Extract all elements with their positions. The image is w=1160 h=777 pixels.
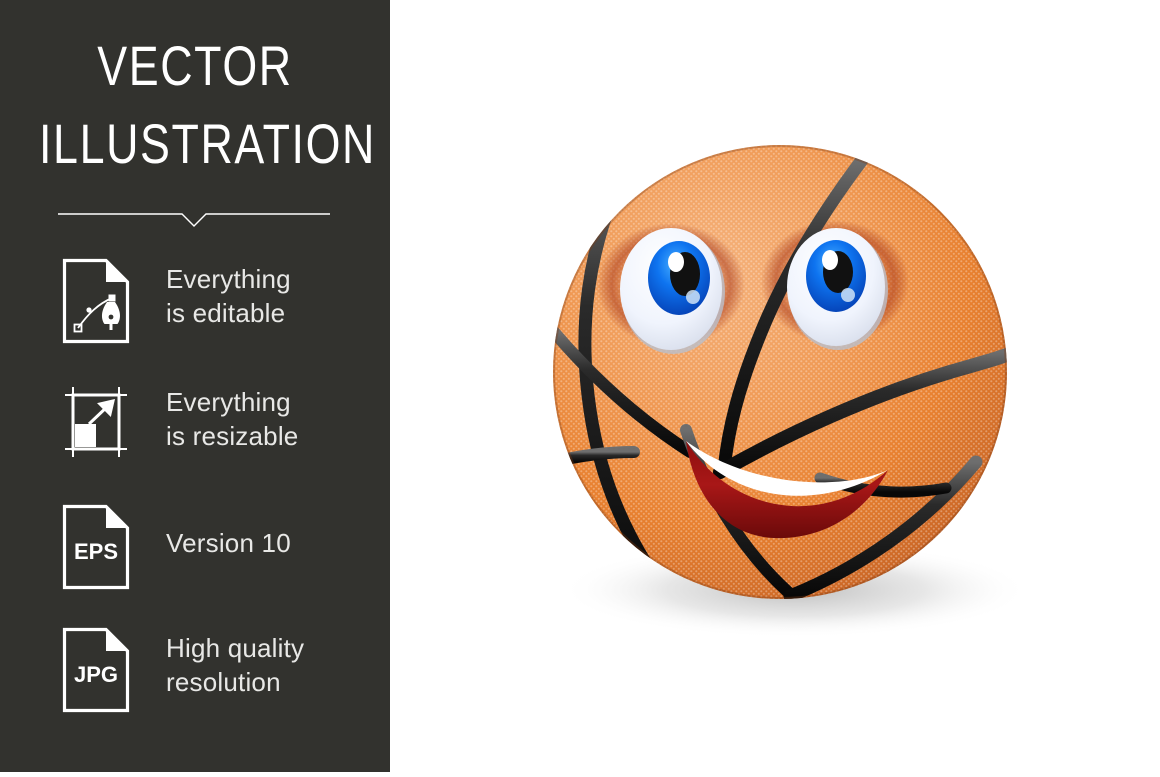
left-eye-highlight — [668, 252, 684, 272]
list-item-label: Everything is resizable — [166, 385, 381, 453]
list-item[interactable]: JPG High quality resolution — [0, 627, 390, 750]
page-title-line1: VECTOR — [39, 38, 351, 94]
feature-line-1: Everything — [166, 385, 381, 419]
info-sidebar: VECTOR ILLUSTRATION — [0, 0, 390, 772]
right-eye-highlight-small — [841, 288, 855, 302]
feature-line-1: High quality — [166, 631, 381, 665]
poster-title: VECTOR ILLUSTRATION — [0, 38, 390, 172]
feature-line-2: is editable — [166, 296, 381, 330]
resize-scale-arrow-icon — [62, 381, 130, 467]
left-eye-highlight-small — [686, 290, 700, 304]
right-eye-highlight — [822, 250, 838, 270]
page-title-line2: ILLUSTRATION — [39, 116, 351, 172]
list-item-label: High quality resolution — [166, 631, 381, 699]
jpg-icon-text: JPG — [74, 662, 118, 687]
eps-file-icon: EPS — [62, 504, 130, 590]
list-item[interactable]: EPS Version 10 — [0, 504, 390, 627]
poster-stage: VECTOR ILLUSTRATION — [0, 0, 1160, 772]
illustration-canvas — [390, 0, 1160, 772]
document-pen-curve-icon — [62, 258, 130, 344]
list-item-label: Version 10 — [166, 526, 381, 560]
eps-icon-text: EPS — [74, 539, 118, 564]
divider-with-chevron — [58, 206, 330, 230]
list-item[interactable]: Everything is resizable — [0, 381, 390, 504]
jpg-file-icon: JPG — [62, 627, 130, 713]
feature-line-1: Everything — [166, 262, 381, 296]
list-item-label: Everything is editable — [166, 262, 381, 330]
smiling-basketball-character — [390, 0, 1160, 772]
feature-line-2: resolution — [166, 665, 381, 699]
list-item[interactable]: Everything is editable — [0, 258, 390, 381]
chevron-down-divider-icon — [58, 206, 330, 230]
feature-line-2: is resizable — [166, 419, 381, 453]
feature-list: Everything is editable — [0, 258, 390, 750]
feature-line-1: Version 10 — [166, 526, 381, 560]
